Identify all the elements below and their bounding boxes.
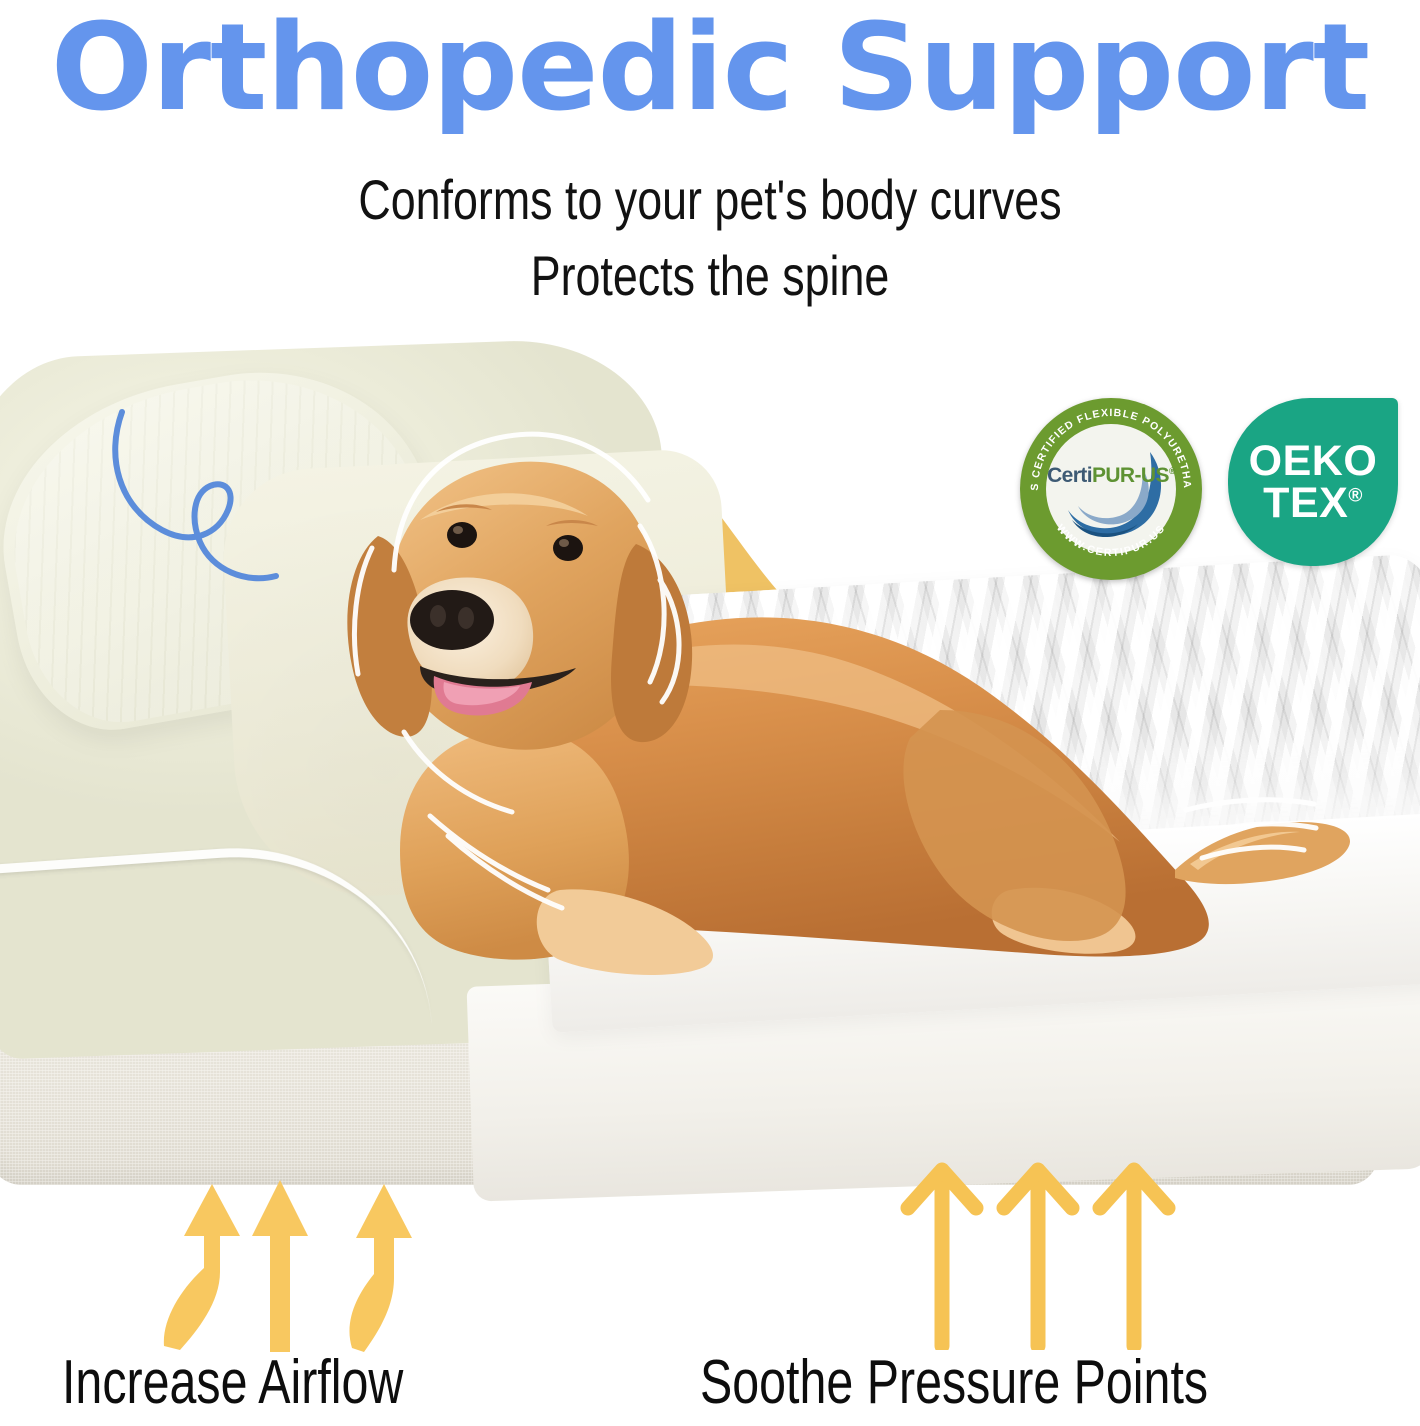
certipur-wordmark-part2: PUR-US — [1092, 464, 1169, 487]
airflow-arrow-1-icon — [164, 1184, 240, 1350]
certipur-swoosh-icon — [1046, 424, 1176, 554]
certipur-registered-mark: ® — [1169, 466, 1175, 476]
certipur-us-badge: CONTAINS CERTIFIED FLEXIBLE POLYURETHANE… — [1020, 398, 1202, 580]
decorative-squiggle-icon — [100, 398, 310, 608]
airflow-arrow-2-icon — [252, 1180, 308, 1352]
caption-soothe-pressure-points: Soothe Pressure Points — [700, 1347, 1208, 1418]
page-title: Orthopedic Support — [0, 4, 1420, 134]
certipur-wordmark-part1: Certi — [1047, 464, 1092, 487]
subheading-line-1: Conforms to your pet's body curves — [142, 172, 1278, 228]
airflow-arrows-left — [150, 1150, 440, 1360]
certipur-wordmark: CertiPUR-US® — [1020, 464, 1202, 488]
oeko-tex-line2: TEX — [1263, 479, 1348, 527]
caption-increase-airflow: Increase Airflow — [62, 1347, 403, 1418]
subheading-line-2: Protects the spine — [142, 248, 1278, 304]
pressure-arrows-right — [900, 1150, 1180, 1350]
certification-badges: CONTAINS CERTIFIED FLEXIBLE POLYURETHANE… — [1020, 398, 1398, 580]
oeko-tex-badge: OEKO TEX® — [1228, 398, 1398, 566]
oeko-tex-registered-mark: ® — [1348, 486, 1363, 507]
oeko-tex-line1: OEKO — [1249, 440, 1378, 482]
airflow-arrow-3-icon — [349, 1184, 412, 1352]
oeko-tex-line2-wrap: TEX® — [1263, 482, 1363, 524]
